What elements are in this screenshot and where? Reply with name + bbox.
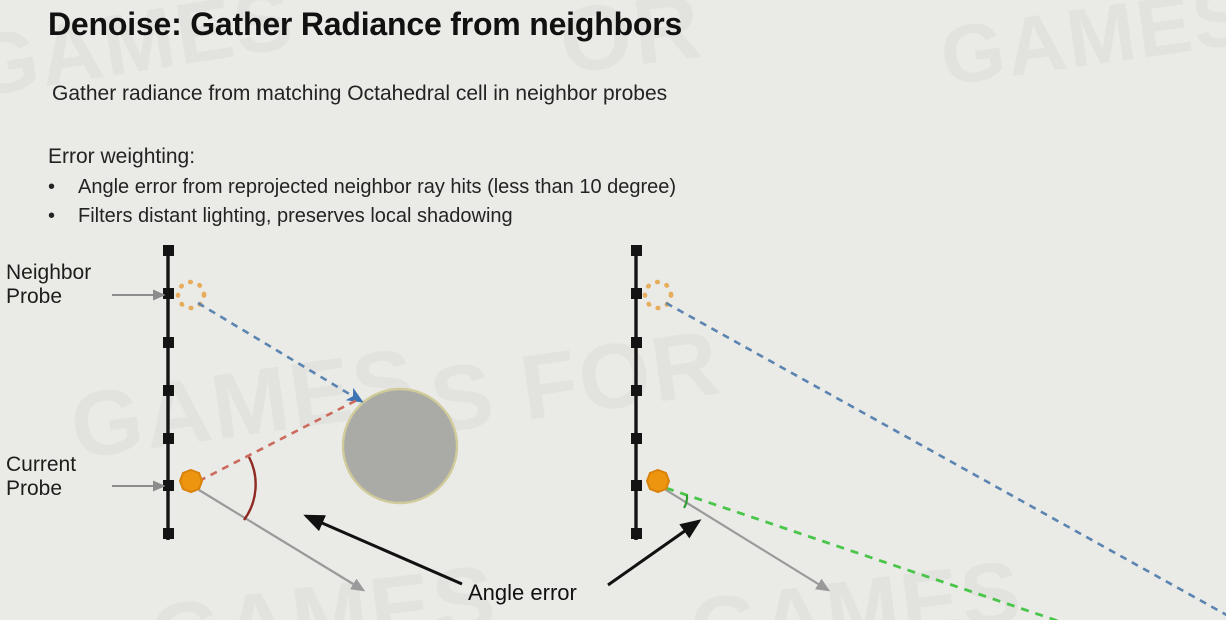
- current-probe-marker-right: [647, 470, 669, 492]
- neighbor-ray-right: [666, 303, 1226, 618]
- angle-error-callout-arrow-left: [306, 516, 462, 584]
- left-panel-diagram: [163, 245, 457, 590]
- current-ray-right: [666, 490, 828, 590]
- current-probe-marker-left: [180, 470, 202, 492]
- reprojected-ray-left: [199, 399, 359, 481]
- angle-error-arc-left: [244, 457, 256, 520]
- slide-canvas: GAMES OR GAMES GAMES S FOR GAMES GAMES D…: [0, 0, 1226, 620]
- right-panel-diagram: [631, 245, 1226, 620]
- matching-ray-right: [666, 488, 1226, 620]
- neighbor-ray-left: [198, 303, 361, 401]
- occluder-sphere-left: [343, 389, 457, 503]
- angle-error-callout-arrow-right: [608, 521, 699, 585]
- current-ray-left: [199, 490, 363, 590]
- diagram-svg: [0, 0, 1226, 620]
